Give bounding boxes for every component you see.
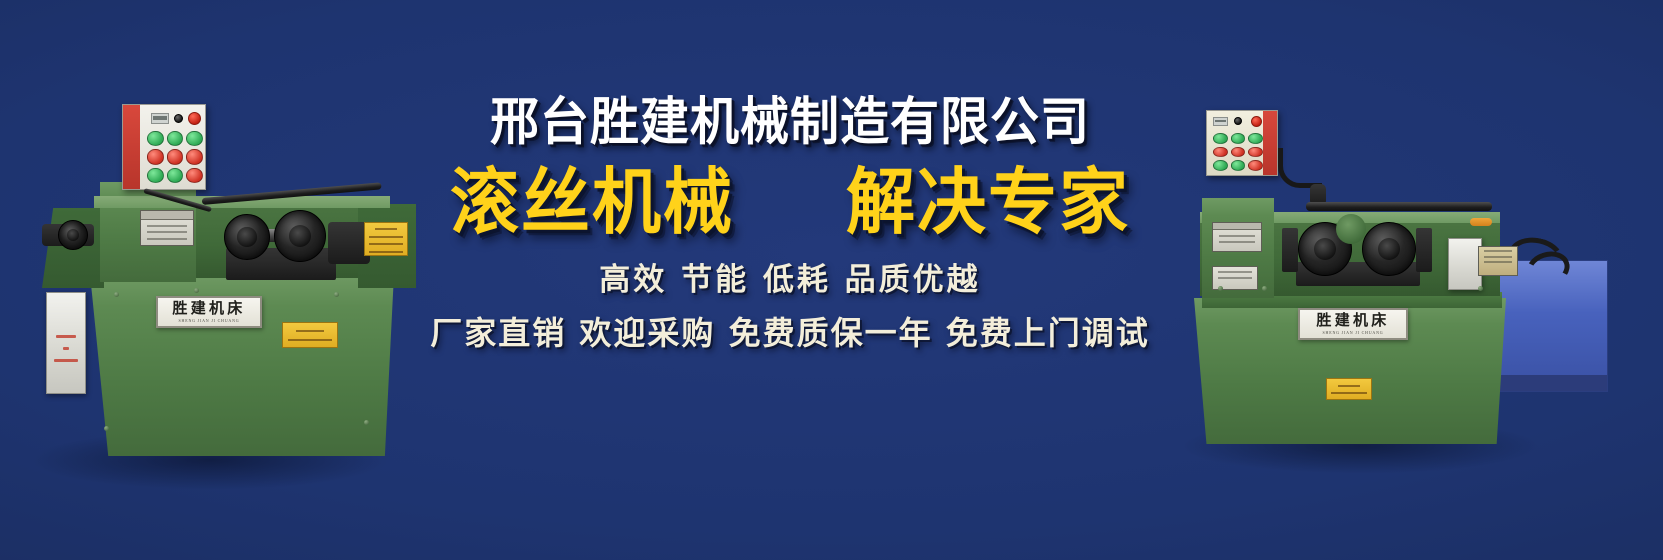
panel-button[interactable]: [167, 131, 184, 146]
panel-button[interactable]: [147, 168, 164, 183]
panel-button[interactable]: [1248, 133, 1263, 144]
headline-row: 滚丝机械 解决专家: [390, 167, 1190, 239]
machine-right-die-holder-left: [1282, 228, 1298, 272]
panel-button[interactable]: [147, 149, 164, 164]
selector-knob-icon[interactable]: [174, 114, 183, 123]
tagline-line-1: 高效 节能 低耗 品质优越: [390, 265, 1190, 296]
panel-button[interactable]: [1248, 160, 1263, 171]
panel-button-grid[interactable]: [147, 131, 203, 183]
panel-button[interactable]: [1213, 160, 1228, 171]
panel-button[interactable]: [147, 131, 164, 146]
machine-right-cable: [1278, 148, 1322, 188]
machine-left-pulley: [58, 220, 88, 250]
panel-button[interactable]: [167, 168, 184, 183]
machine-left-roller-die-1: [224, 214, 270, 260]
panel-button[interactable]: [1231, 160, 1246, 171]
panel-button[interactable]: [1231, 133, 1246, 144]
company-name: 邢台胜建机械制造有限公司: [390, 96, 1190, 148]
headline-right: 解决专家: [846, 165, 1130, 241]
machine-left-brand-pinyin: SHENG JIAN JI CHUANG: [179, 319, 240, 323]
panel-button[interactable]: [1213, 147, 1228, 158]
promo-banner: 胜建机床 SHENG JIAN JI CHUANG: [0, 0, 1663, 560]
headline-left: 滚丝机械: [450, 165, 734, 241]
tagline-line-2: 厂家直销 欢迎采购 免费质保一年 免费上门调试: [390, 317, 1190, 349]
machine-right-spec-plate: [1212, 222, 1262, 252]
emergency-stop-button[interactable]: [1251, 116, 1262, 127]
machine-left-roller-die-2: [274, 210, 326, 262]
machine-right-die-holder-right: [1416, 228, 1432, 272]
panel-button[interactable]: [186, 149, 203, 164]
panel-button[interactable]: [1231, 147, 1246, 158]
panel-meter: [151, 113, 169, 124]
machine-left-note-label: [282, 322, 338, 348]
panel-button-grid[interactable]: [1213, 133, 1263, 171]
machine-right-note-label: [1326, 378, 1372, 400]
machine-left-control-panel[interactable]: [122, 104, 206, 190]
panel-button[interactable]: [186, 168, 203, 183]
machine-left-electrical-cabinet[interactable]: [46, 292, 86, 394]
machine-right-spec-plate-side: [1478, 246, 1518, 276]
panel-red-strip: [1263, 111, 1277, 175]
panel-button[interactable]: [1248, 147, 1263, 158]
selector-knob-icon[interactable]: [1234, 117, 1242, 125]
panel-meter: [1213, 117, 1228, 126]
machine-right-control-panel[interactable]: [1206, 110, 1278, 176]
panel-button[interactable]: [186, 131, 203, 146]
machine-left-nameplate: 胜建机床 SHENG JIAN JI CHUANG: [156, 296, 262, 328]
machine-left: 胜建机床 SHENG JIAN JI CHUANG: [34, 96, 424, 461]
machine-right-roller-die-2: [1362, 222, 1416, 276]
machine-right-handwheel-icon: [1336, 214, 1366, 244]
machine-right: 胜建机床 SHENG JIAN JI CHUANG: [1178, 110, 1598, 458]
machine-right-guard-bar: [1306, 202, 1492, 211]
machine-right-brand-pinyin: SHENG JIAN JI CHUANG: [1323, 331, 1384, 335]
machine-right-nameplate: 胜建机床 SHENG JIAN JI CHUANG: [1298, 308, 1408, 340]
panel-button[interactable]: [167, 149, 184, 164]
machine-right-terminal-block: [1470, 218, 1492, 226]
panel-red-strip: [123, 105, 140, 189]
machine-right-brand-cn: 胜建机床: [1316, 313, 1389, 328]
emergency-stop-button[interactable]: [188, 112, 201, 125]
banner-text-block: 邢台胜建机械制造有限公司 滚丝机械 解决专家 高效 节能 低耗 品质优越 厂家直…: [390, 96, 1190, 349]
machine-right-fixture: [1448, 238, 1482, 290]
panel-button[interactable]: [1213, 133, 1228, 144]
machine-left-brand-cn: 胜建机床: [172, 301, 245, 316]
machine-left-spec-plate: [140, 210, 194, 246]
